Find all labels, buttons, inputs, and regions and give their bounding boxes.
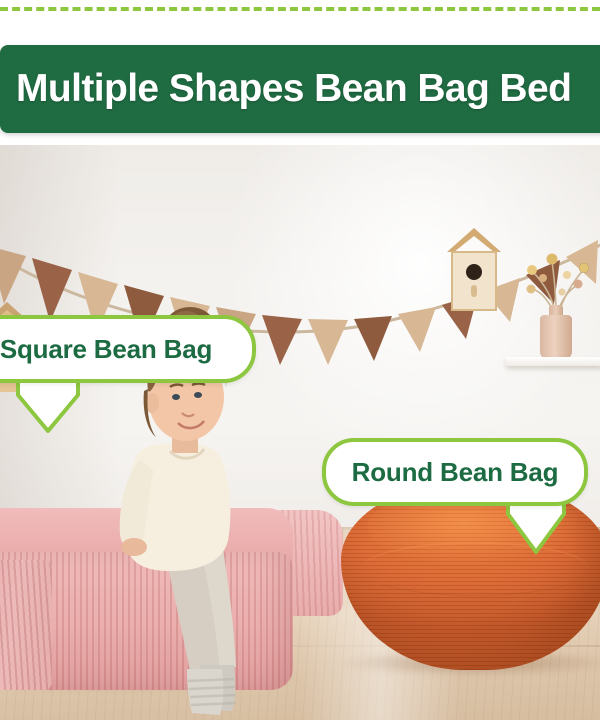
page-title: Multiple Shapes Bean Bag Bed xyxy=(16,67,571,111)
dashed-divider-top xyxy=(0,7,600,11)
room-photo: Square Bean Bag Round Bean Bag xyxy=(0,145,600,720)
wall-shelf xyxy=(506,357,600,366)
vase xyxy=(540,315,572,360)
title-banner: Multiple Shapes Bean Bag Bed xyxy=(0,45,600,133)
birdhouse-right-icon xyxy=(444,225,504,313)
poster-root: Multiple Shapes Bean Bag Bed xyxy=(0,0,600,720)
orange-pouf-seam xyxy=(361,542,589,596)
callout-square-label: Square Bean Bag xyxy=(0,334,212,365)
orange-round-pouf xyxy=(341,480,600,670)
callout-square-bean-bag[interactable]: Square Bean Bag xyxy=(0,315,256,383)
callout-round-label: Round Bean Bag xyxy=(352,457,559,488)
pink-beanbag-side-face xyxy=(0,560,52,690)
callout-round-bean-bag[interactable]: Round Bean Bag xyxy=(322,438,588,506)
